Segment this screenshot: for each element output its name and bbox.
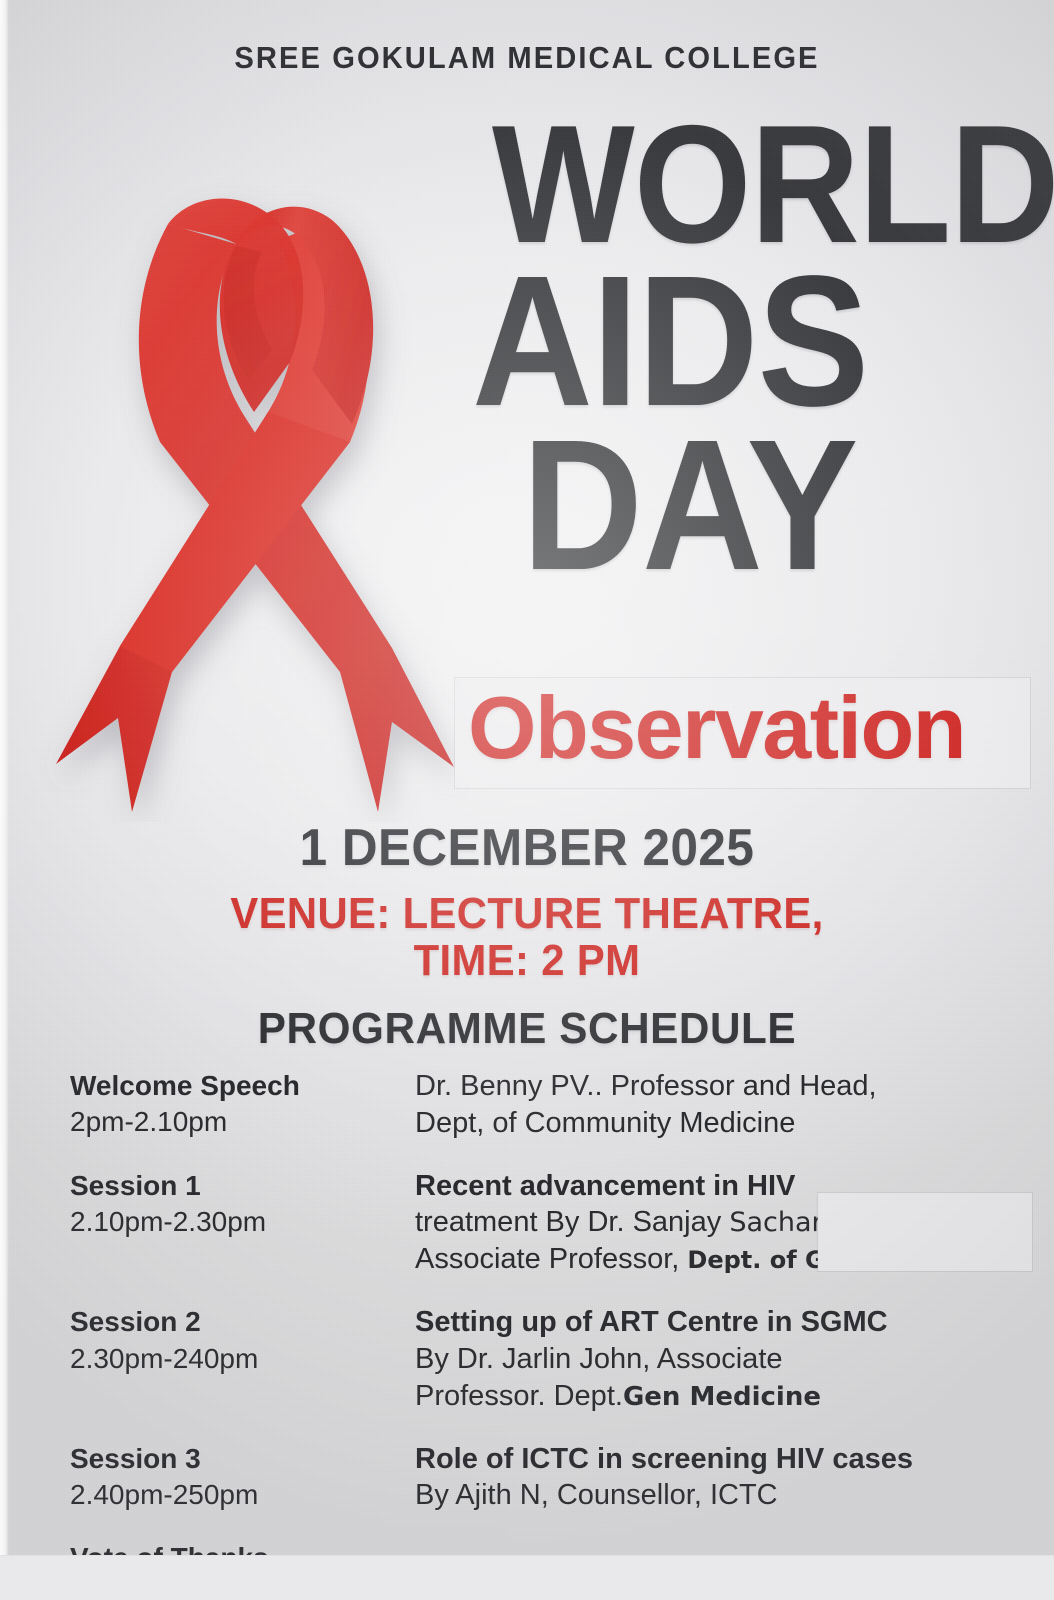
schedule-row: Welcome Speech 2pm-2.10pm Dr. Benny PV..… [70,1068,1010,1142]
schedule-detail-line-1: Role of ICTC in screening HIV cases [415,1443,913,1475]
programme-schedule-heading: PROGRAMME SCHEDULE [21,1004,1033,1054]
college-name: SREE GOKULAM MEDICAL COLLEGE [32,40,1023,76]
schedule-row-label-group: Welcome Speech 2pm-2.10pm [70,1068,415,1142]
schedule-row: Session 3 2.40pm-250pm Role of ICTC in s… [70,1441,1010,1515]
schedule-row-time: 2pm-2.10pm [70,1104,415,1140]
schedule-detail-line-1: Dr. Benny PV.. Professor and Head, [415,1070,877,1102]
title-line-world: WORLD [492,112,976,256]
schedule-detail-patched-name: Sachariah [729,1207,863,1238]
schedule-row-detail: Recent advancement in HIV treatment By D… [415,1168,1010,1278]
schedule-row-detail [415,1540,1010,1576]
schedule-detail-line-2: treatment By Dr. Sanjay [415,1206,729,1238]
title-line-aids: AIDS [472,262,974,422]
schedule-row-time: 2.40pm-250pm [70,1477,415,1513]
schedule-detail-patched-dept: Gen Medicine [623,1382,821,1412]
schedule-row-label: Session 1 [70,1168,415,1204]
schedule-row-label-group: Session 3 2.40pm-250pm [70,1441,415,1515]
world-aids-day-poster: SREE GOKULAM MEDICAL COLLEGE [0,0,1054,1600]
programme-schedule-list: Welcome Speech 2pm-2.10pm Dr. Benny PV..… [70,1068,1010,1600]
schedule-detail-line-2: Dept, of Community Medicine [415,1107,795,1139]
schedule-detail-line-2: By Dr. Jarlin John, Associate [415,1343,783,1375]
aids-awareness-ribbon-icon [40,112,470,822]
schedule-row-detail: Role of ICTC in screening HIV cases By A… [415,1441,1010,1515]
schedule-row-time: 2.30pm-240pm [70,1341,415,1377]
page-edge-left [0,0,9,1558]
schedule-detail-line-1: Setting up of ART Centre in SGMC [415,1306,888,1338]
schedule-row: Session 1 2.10pm-2.30pm Recent advanceme… [70,1168,1010,1278]
schedule-row-label: Welcome Speech [70,1068,415,1104]
event-venue: VENUE: LECTURE THEATRE, [26,889,1027,939]
schedule-row-label-group: Vote of Thanks [70,1540,415,1576]
schedule-detail-patched-dept: Dept. of Gen Medcine [687,1246,979,1274]
schedule-row-label: Session 3 [70,1441,415,1477]
schedule-detail-line-1: Recent advancement in HIV [415,1170,795,1202]
schedule-row-label: Session 2 [70,1304,415,1340]
schedule-row-detail: Dr. Benny PV.. Professor and Head, Dept,… [415,1068,1010,1142]
schedule-row-time: 2.10pm-2.30pm [70,1204,415,1240]
schedule-row-label-group: Session 1 2.10pm-2.30pm [70,1168,415,1278]
subtitle-observation: Observation [468,684,1028,772]
schedule-detail-line-3: Professor. Dept. [415,1380,623,1412]
event-date: 1 DECEMBER 2025 [26,818,1027,878]
schedule-detail-line-2: By Ajith N, Counsellor, ICTC [415,1479,778,1511]
schedule-row-vote-of-thanks: Vote of Thanks [70,1540,1010,1576]
vote-of-thanks-label: Vote of Thanks [70,1542,269,1573]
schedule-row-label-group: Session 2 2.30pm-240pm [70,1304,415,1414]
title-line-day: DAY [522,426,979,586]
schedule-row-detail: Setting up of ART Centre in SGMC By Dr. … [415,1304,1010,1414]
schedule-detail-line-3: Associate Professor, [415,1243,679,1275]
event-time: TIME: 2 PM [26,936,1027,986]
main-title: WORLD AIDS DAY [470,112,1030,586]
schedule-row: Session 2 2.30pm-240pm Setting up of ART… [70,1304,1010,1414]
